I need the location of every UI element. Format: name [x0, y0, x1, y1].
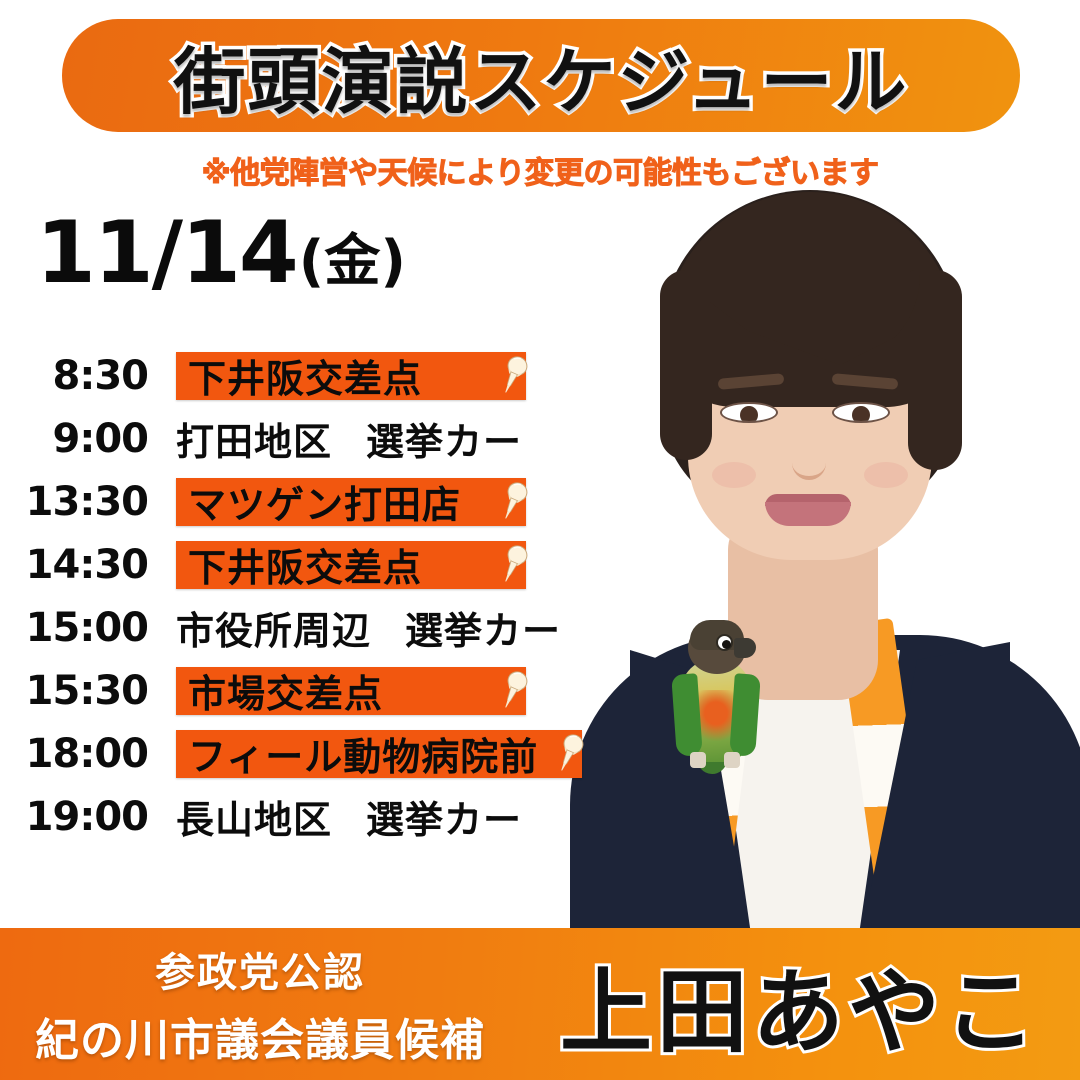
- schedule-place-label: マツゲン打田店: [188, 474, 461, 529]
- schedule-place: フィール動物病院前: [176, 730, 582, 778]
- schedule-list: 8:30下井阪交差点9:00打田地区選挙カー13:30マツゲン打田店14:30下…: [0, 344, 660, 848]
- schedule-time: 8:30: [0, 353, 148, 399]
- schedule-place: 下井阪交差点: [176, 352, 526, 400]
- schedule-row: 9:00打田地区選挙カー: [0, 407, 660, 470]
- schedule-row: 14:30下井阪交差点: [0, 533, 660, 596]
- schedule-mode: 選挙カー: [366, 411, 522, 466]
- schedule-place-label: フィール動物病院前: [188, 726, 538, 781]
- cheek-left: [712, 462, 756, 488]
- schedule-place-label: 市場交差点: [188, 663, 383, 718]
- page-title: 街頭演説スケジュール: [62, 19, 1020, 132]
- green-cheeked-conure-parrot: [668, 612, 764, 772]
- schedule-place-label: 打田地区: [176, 411, 332, 466]
- schedule-time: 9:00: [0, 416, 148, 462]
- parrot-eye: [716, 634, 733, 651]
- date-weekday: (金): [299, 234, 406, 296]
- date-heading: 11/14 (金): [36, 210, 406, 296]
- schedule-time: 15:30: [0, 668, 148, 714]
- schedule-place: 市場交差点: [176, 667, 526, 715]
- microphone-icon: [538, 732, 572, 776]
- schedule-place-label: 市役所周辺: [176, 600, 371, 655]
- title-banner: 街頭演説スケジュール: [62, 19, 1020, 132]
- schedule-row: 13:30マツゲン打田店: [0, 470, 660, 533]
- mouth: [765, 502, 851, 526]
- schedule-mode: 選挙カー: [366, 789, 522, 844]
- parrot-foot-left: [690, 752, 706, 768]
- candidate-name: 上田あやこ: [520, 938, 1080, 1071]
- schedule-row: 18:00フィール動物病院前: [0, 722, 660, 785]
- schedule-time: 19:00: [0, 794, 148, 840]
- microphone-icon: [482, 669, 516, 713]
- parrot-beak: [734, 638, 756, 658]
- microphone-icon: [482, 354, 516, 398]
- hair-side-left: [660, 270, 712, 460]
- schedule-row: 8:30下井阪交差点: [0, 344, 660, 407]
- schedule-row: 15:00市役所周辺選挙カー: [0, 596, 660, 659]
- eye-left: [720, 402, 778, 423]
- schedule-place: 長山地区選挙カー: [176, 793, 522, 841]
- nose: [792, 438, 826, 480]
- microphone-icon: [482, 480, 516, 524]
- schedule-place-label: 下井阪交差点: [188, 537, 422, 592]
- footer-banner: 参政党公認 紀の川市議会議員候補 上田あやこ: [0, 928, 1080, 1080]
- schedule-time: 18:00: [0, 731, 148, 777]
- schedule-row: 19:00長山地区選挙カー: [0, 785, 660, 848]
- eye-right: [832, 402, 890, 423]
- schedule-place-label: 長山地区: [176, 789, 332, 844]
- cheek-right: [864, 462, 908, 488]
- parrot-foot-right: [724, 752, 740, 768]
- schedule-place: 下井阪交差点: [176, 541, 526, 589]
- schedule-place: 市役所周辺選挙カー: [176, 604, 561, 652]
- schedule-place-label: 下井阪交差点: [188, 348, 422, 403]
- party-endorsement: 参政党公認: [0, 940, 520, 998]
- date-value: 11/14: [36, 210, 297, 296]
- candidate-position: 紀の川市議会議員候補: [0, 1004, 520, 1068]
- schedule-row: 15:30市場交差点: [0, 659, 660, 722]
- schedule-time: 14:30: [0, 542, 148, 588]
- schedule-time: 13:30: [0, 479, 148, 525]
- microphone-icon: [482, 543, 516, 587]
- schedule-mode: 選挙カー: [405, 600, 561, 655]
- parrot-wing-right: [729, 673, 761, 757]
- disclaimer-note: ※他党陣営や天候により変更の可能性もございます: [0, 148, 1080, 192]
- schedule-place: マツゲン打田店: [176, 478, 526, 526]
- schedule-time: 15:00: [0, 605, 148, 651]
- schedule-place: 打田地区選挙カー: [176, 415, 522, 463]
- party-info-block: 参政党公認 紀の川市議会議員候補: [0, 940, 520, 1068]
